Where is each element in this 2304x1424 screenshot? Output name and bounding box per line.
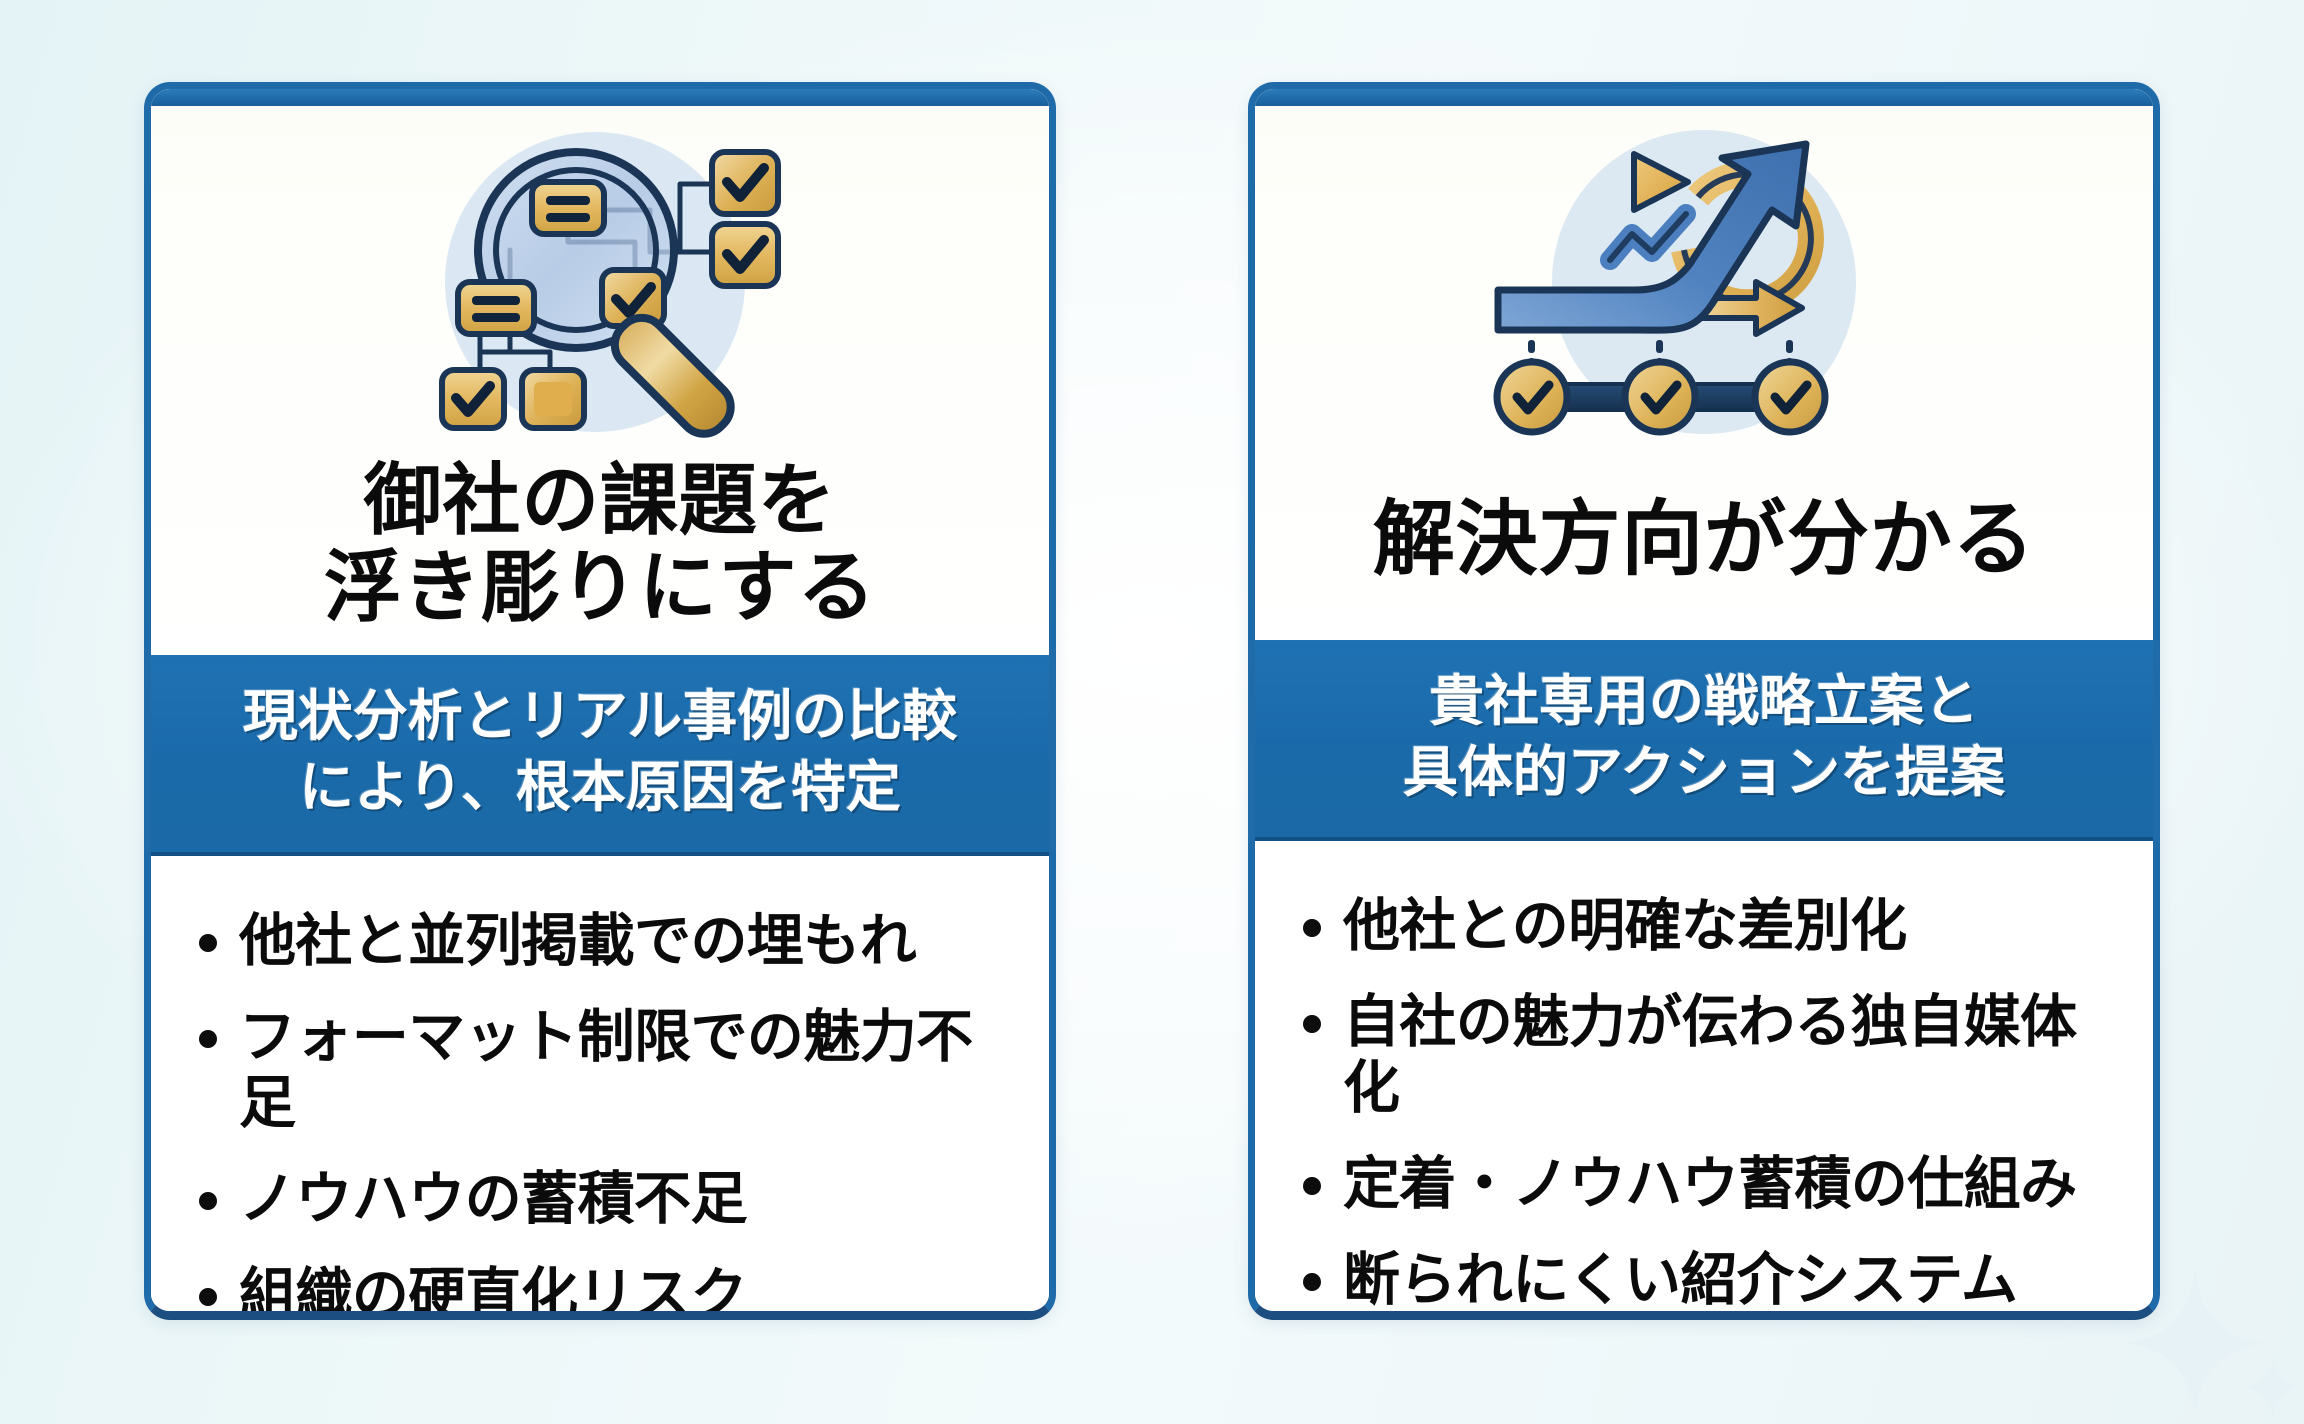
- list-item: フォーマット制限での魅力不足: [199, 1004, 1015, 1136]
- problem-card[interactable]: 御社の課題を 浮き彫りにする 現状分析とリアル事例の比較 により、根本原因を特定…: [144, 82, 1056, 1320]
- list-item-label: 定着・ノウハウ蓄積の仕組み: [1343, 1151, 2077, 1217]
- list-item: 他社と並列掲載での埋もれ: [199, 908, 1015, 974]
- solution-card-header: 解決方向が分かる: [1255, 89, 2153, 640]
- bullet-dot-icon: [199, 1030, 217, 1048]
- bullet-dot-icon: [1303, 1015, 1321, 1033]
- bullet-dot-icon: [199, 1288, 217, 1306]
- bullet-dot-icon: [1303, 919, 1321, 937]
- bullet-dot-icon: [199, 934, 217, 952]
- bullet-dot-icon: [1303, 1177, 1321, 1195]
- problem-card-header: 御社の課題を 浮き彫りにする: [151, 89, 1049, 655]
- bullet-dot-icon: [199, 1192, 217, 1210]
- bullet-dot-icon: [1303, 1273, 1321, 1291]
- solution-card[interactable]: 解決方向が分かる 貴社専用の戦略立案と 具体的アクションを提案 他社との明確な差…: [1248, 82, 2160, 1320]
- list-item: 自社の魅力が伝わる独自媒体化: [1303, 989, 2119, 1121]
- sparkle-decoration-small: [2238, 1352, 2304, 1422]
- list-item: 他社との明確な差別化: [1303, 893, 2119, 959]
- list-item-label: フォーマット制限での魅力不足: [239, 1004, 1015, 1136]
- list-item: 断られにくい紹介システム: [1303, 1247, 2119, 1313]
- growth-arrow-cycle-icon: [1255, 106, 2153, 458]
- problem-card-banner: 現状分析とリアル事例の比較 により、根本原因を特定: [151, 655, 1049, 856]
- list-item: 組織の硬直化リスク: [199, 1262, 1015, 1320]
- list-item-label: 他社との明確な差別化: [1343, 893, 1907, 959]
- magnifier-org-chart-icon: [151, 106, 1049, 458]
- list-item-label: 組織の硬直化リスク: [239, 1262, 747, 1320]
- problem-card-title: 御社の課題を 浮き彫りにする: [151, 458, 1049, 655]
- solution-card-banner: 貴社専用の戦略立案と 具体的アクションを提案: [1255, 640, 2153, 841]
- list-item-label: ノウハウの蓄積不足: [239, 1166, 747, 1232]
- solution-card-title: 解決方向が分かる: [1255, 458, 2153, 640]
- list-item-label: 断られにくい紹介システム: [1343, 1247, 2017, 1313]
- solution-card-bullet-list: 他社との明確な差別化 自社の魅力が伝わる独自媒体化 定着・ノウハウ蓄積の仕組み …: [1255, 841, 2153, 1320]
- list-item-label: 自社の魅力が伝わる独自媒体化: [1343, 989, 2119, 1121]
- list-item-label: 他社と並列掲載での埋もれ: [239, 908, 916, 974]
- problem-card-bullet-list: 他社と並列掲載での埋もれ フォーマット制限での魅力不足 ノウハウの蓄積不足 組織…: [151, 856, 1049, 1320]
- list-item: 定着・ノウハウ蓄積の仕組み: [1303, 1151, 2119, 1217]
- list-item: ノウハウの蓄積不足: [199, 1166, 1015, 1232]
